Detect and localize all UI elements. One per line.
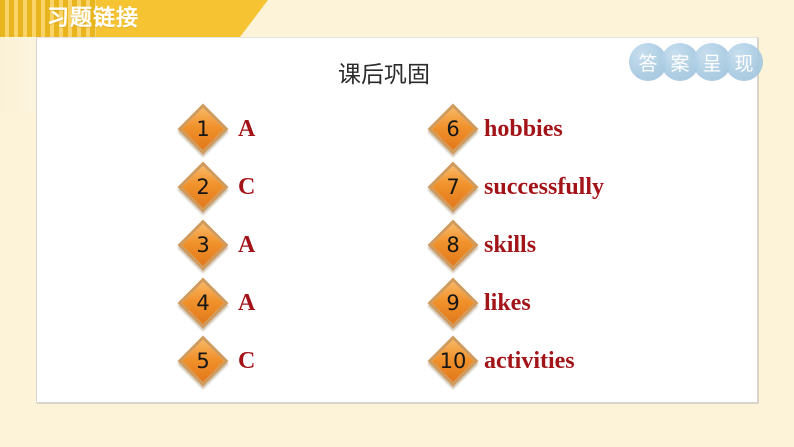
answer-text: hobbies	[484, 116, 563, 143]
question-number: 10	[428, 336, 478, 386]
content-panel	[36, 37, 758, 403]
diamond-marker: 6	[428, 104, 478, 154]
answer-row[interactable]: 8 skills	[428, 216, 604, 274]
question-number: 8	[428, 220, 478, 270]
answer-text: skills	[484, 232, 536, 259]
diamond-marker: 4	[178, 278, 228, 328]
answer-row[interactable]: 5 C	[178, 332, 255, 390]
diamond-marker: 3	[178, 220, 228, 270]
answer-row[interactable]: 9 likes	[428, 274, 604, 332]
answer-column-right: 6 hobbies 7 successfully 8 skills 9 like…	[428, 100, 604, 390]
diamond-marker: 10	[428, 336, 478, 386]
answer-row[interactable]: 4 A	[178, 274, 255, 332]
answer-text: A	[238, 290, 255, 317]
question-number: 2	[178, 162, 228, 212]
answer-row[interactable]: 1 A	[178, 100, 255, 158]
answer-text: activities	[484, 348, 575, 375]
answer-row[interactable]: 6 hobbies	[428, 100, 604, 158]
diamond-marker: 8	[428, 220, 478, 270]
answer-row[interactable]: 10 activities	[428, 332, 604, 390]
section-title: 课后巩固	[338, 55, 430, 89]
diamond-marker: 2	[178, 162, 228, 212]
question-number: 1	[178, 104, 228, 154]
answer-row[interactable]: 7 successfully	[428, 158, 604, 216]
question-number: 7	[428, 162, 478, 212]
answer-text: successfully	[484, 174, 604, 201]
question-number: 9	[428, 278, 478, 328]
question-number: 3	[178, 220, 228, 270]
diamond-marker: 1	[178, 104, 228, 154]
badge-circle-4: 现	[725, 43, 763, 81]
answer-row[interactable]: 2 C	[178, 158, 255, 216]
banner-title: 习题链接	[47, 3, 139, 34]
answer-text: likes	[484, 290, 531, 317]
header-banner: 习题链接	[0, 0, 268, 37]
answer-column-left: 1 A 2 C 3 A 4 A	[178, 100, 255, 390]
diamond-marker: 9	[428, 278, 478, 328]
slide-root: 习题链接 答 案 呈 现 课后巩固 1 A 2 C	[0, 0, 794, 447]
question-number: 6	[428, 104, 478, 154]
answer-row[interactable]: 3 A	[178, 216, 255, 274]
answer-text: C	[238, 174, 255, 201]
diamond-marker: 5	[178, 336, 228, 386]
answer-text: A	[238, 116, 255, 143]
diamond-marker: 7	[428, 162, 478, 212]
question-number: 5	[178, 336, 228, 386]
question-number: 4	[178, 278, 228, 328]
answer-text: C	[238, 348, 255, 375]
answer-text: A	[238, 232, 255, 259]
answer-reveal-badge[interactable]: 答 案 呈 现	[629, 43, 763, 81]
